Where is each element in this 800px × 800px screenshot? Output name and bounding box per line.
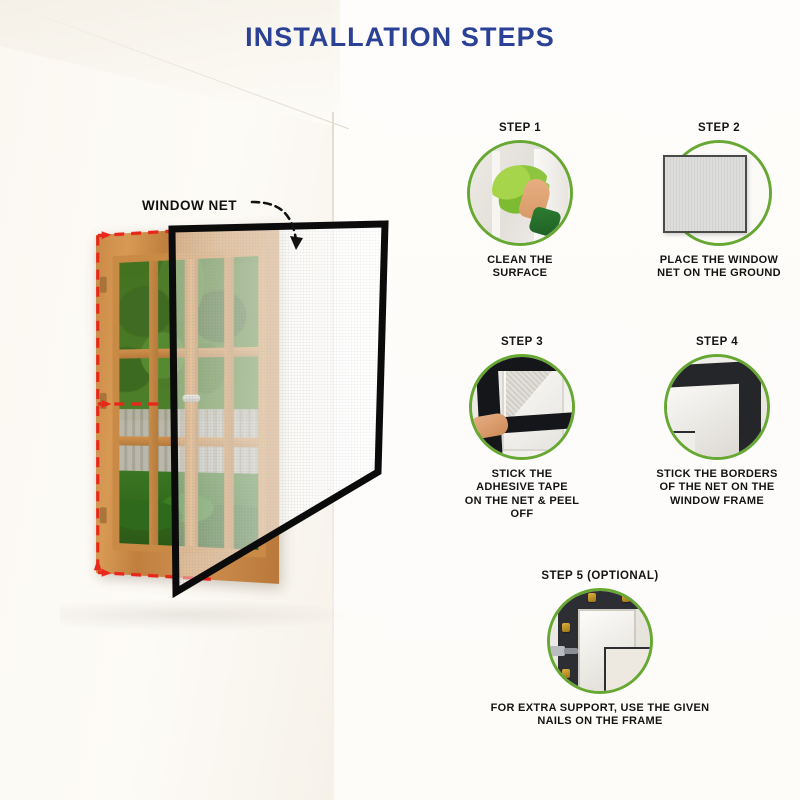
window-glass-area <box>113 248 266 557</box>
step4-net-border-right <box>739 363 761 460</box>
step-caption-5: FOR EXTRA SUPPORT, USE THE GIVEN NAILS O… <box>478 702 722 729</box>
step-card-3: STEP 3 STICK THE ADHESIVE TAPE ON THE NE… <box>452 336 592 522</box>
window-net-illustration: WINDOW NET <box>0 0 420 640</box>
step-image-4 <box>664 354 770 460</box>
folded-net-square-icon <box>663 155 747 233</box>
wooden-window-icon <box>96 224 279 584</box>
window-hinge-icon <box>100 393 107 409</box>
step5-net-border-left <box>558 589 578 694</box>
window-net-label: WINDOW NET <box>142 198 237 213</box>
step-card-4: STEP 4 STICK THE BORDERS OF THE NET ON T… <box>644 336 790 508</box>
step-image-5 <box>547 588 653 694</box>
step-image-2 <box>666 140 772 246</box>
infographic-canvas: INSTALLATION STEPS <box>0 0 800 800</box>
window-hinge-icon <box>100 507 107 523</box>
step-image-3 <box>469 354 575 460</box>
step-title-1: STEP 1 <box>456 122 584 134</box>
window-hinge-icon <box>100 277 107 293</box>
step-title-2: STEP 2 <box>652 122 786 134</box>
window-mullion-vertical <box>224 257 234 548</box>
step-caption-3: STICK THE ADHESIVE TAPE ON THE NET & PEE… <box>452 468 592 522</box>
step-card-1: STEP 1 CLEAN THE SURFACE <box>456 122 584 281</box>
window-sash-split <box>184 259 197 547</box>
step-card-2: STEP 2 PLACE THE WINDOW NET ON THE GROUN… <box>652 122 786 281</box>
step-card-5: STEP 5 (OPTIONAL) FOR EXTRA SUPPORT, USE… <box>478 570 722 729</box>
curved-dashed-arrow-icon <box>248 196 318 256</box>
step4-frame-notch <box>664 431 695 460</box>
nail-icon <box>562 669 570 678</box>
step5-frame-inner <box>604 647 652 694</box>
window-mullion-vertical <box>149 261 158 545</box>
step-title-4: STEP 4 <box>644 336 790 348</box>
hammer-icon <box>548 643 578 659</box>
step-title-3: STEP 3 <box>452 336 592 348</box>
nail-icon <box>588 593 596 602</box>
window-handle-icon <box>182 394 200 401</box>
step-caption-2: PLACE THE WINDOW NET ON THE GROUND <box>652 254 786 281</box>
step-caption-4: STICK THE BORDERS OF THE NET ON THE WIND… <box>644 468 790 508</box>
step-image-1 <box>467 140 573 246</box>
nail-icon <box>622 593 630 602</box>
step-caption-1: CLEAN THE SURFACE <box>456 254 584 281</box>
step-title-5: STEP 5 (OPTIONAL) <box>478 570 722 582</box>
nail-icon <box>562 623 570 632</box>
